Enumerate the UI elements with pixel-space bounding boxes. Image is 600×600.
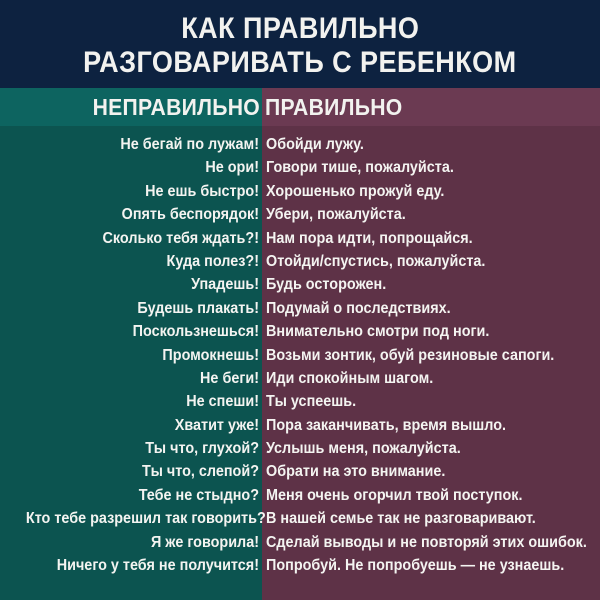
right-phrase-cell: Будь осторожен. — [266, 273, 567, 296]
wrong-phrases-column: Не бегай по лужам!Не ори!Не ешь быстро!О… — [0, 126, 262, 600]
poster: КАК ПРАВИЛЬНО РАЗГОВАРИВАТЬ С РЕБЕНКОМ Н… — [0, 0, 600, 600]
right-phrase-cell: Иди спокойным шагом. — [266, 367, 567, 390]
wrong-phrase-cell: Кто тебе разрешил так говорить? — [26, 507, 259, 530]
wrong-phrase-cell: Будешь плакать! — [26, 297, 259, 320]
right-phrase-cell: Подумай о последствиях. — [266, 297, 567, 320]
right-phrase-cell: Отойди/спустись, пожалуйста. — [266, 250, 567, 273]
right-phrases-column: Обойди лужу.Говори тише, пожалуйста.Хоро… — [262, 126, 600, 600]
column-headers: НЕПРАВИЛЬНО ПРАВИЛЬНО — [0, 88, 600, 126]
wrong-phrase-cell: Ты что, глухой? — [26, 437, 259, 460]
wrong-phrase-cell: Я же говорила! — [26, 531, 259, 554]
column-header-wrong: НЕПРАВИЛЬНО — [0, 88, 262, 126]
column-header-wrong-label: НЕПРАВИЛЬНО — [93, 96, 260, 119]
wrong-phrase-cell: Промокнешь! — [26, 344, 259, 367]
right-phrase-cell: Убери, пожалуйста. — [266, 203, 567, 226]
wrong-phrase-cell: Не ешь быстро! — [26, 180, 259, 203]
right-phrase-cell: Хорошенько прожуй еду. — [266, 180, 567, 203]
wrong-phrase-cell: Ты что, слепой? — [26, 460, 259, 483]
right-phrase-cell: Пора заканчивать, время вышло. — [266, 414, 567, 437]
wrong-phrase-cell: Хватит уже! — [26, 414, 259, 437]
column-header-right: ПРАВИЛЬНО — [262, 88, 600, 126]
right-phrase-cell: Услышь меня, пожалуйста. — [266, 437, 567, 460]
poster-title-line-2: РАЗГОВАРИВАТЬ С РЕБЕНКОМ — [83, 48, 516, 78]
right-phrase-cell: Попробуй. Не попробуешь — не узнаешь. — [266, 554, 567, 577]
wrong-phrase-cell: Не ори! — [26, 156, 259, 179]
wrong-phrase-cell: Не спеши! — [26, 390, 259, 413]
wrong-phrase-cell: Куда полез?! — [26, 250, 259, 273]
right-phrase-cell: Возьми зонтик, обуй резиновые сапоги. — [266, 344, 567, 367]
right-phrase-cell: Ты успеешь. — [266, 390, 567, 413]
wrong-phrase-cell: Сколько тебя ждать?! — [26, 227, 259, 250]
poster-header: КАК ПРАВИЛЬНО РАЗГОВАРИВАТЬ С РЕБЕНКОМ — [0, 0, 600, 88]
right-phrase-cell: Обойди лужу. — [266, 133, 567, 156]
right-phrase-cell: Сделай выводы и не повторяй этих ошибок. — [266, 531, 567, 554]
right-phrase-cell: В нашей семье так не разговаривают. — [266, 507, 567, 530]
column-header-right-label: ПРАВИЛЬНО — [265, 96, 403, 119]
right-phrase-cell: Нам пора идти, попрощайся. — [266, 227, 567, 250]
right-phrase-cell: Обрати на это внимание. — [266, 460, 567, 483]
wrong-phrase-cell: Тебе не стыдно? — [26, 484, 259, 507]
wrong-phrase-cell: Опять беспорядок! — [26, 203, 259, 226]
wrong-phrase-cell: Упадешь! — [26, 273, 259, 296]
right-phrase-cell: Говори тише, пожалуйста. — [266, 156, 567, 179]
wrong-phrase-cell: Поскользнешься! — [26, 320, 259, 343]
wrong-phrase-cell: Не беги! — [26, 367, 259, 390]
right-phrase-cell: Меня очень огорчил твой поступок. — [266, 484, 567, 507]
poster-title-line-1: КАК ПРАВИЛЬНО — [181, 14, 419, 44]
wrong-phrase-cell: Ничего у тебя не получится! — [26, 554, 259, 577]
phrase-table: Не бегай по лужам!Не ори!Не ешь быстро!О… — [0, 126, 600, 600]
right-phrase-cell: Внимательно смотри под ноги. — [266, 320, 567, 343]
wrong-phrase-cell: Не бегай по лужам! — [26, 133, 259, 156]
